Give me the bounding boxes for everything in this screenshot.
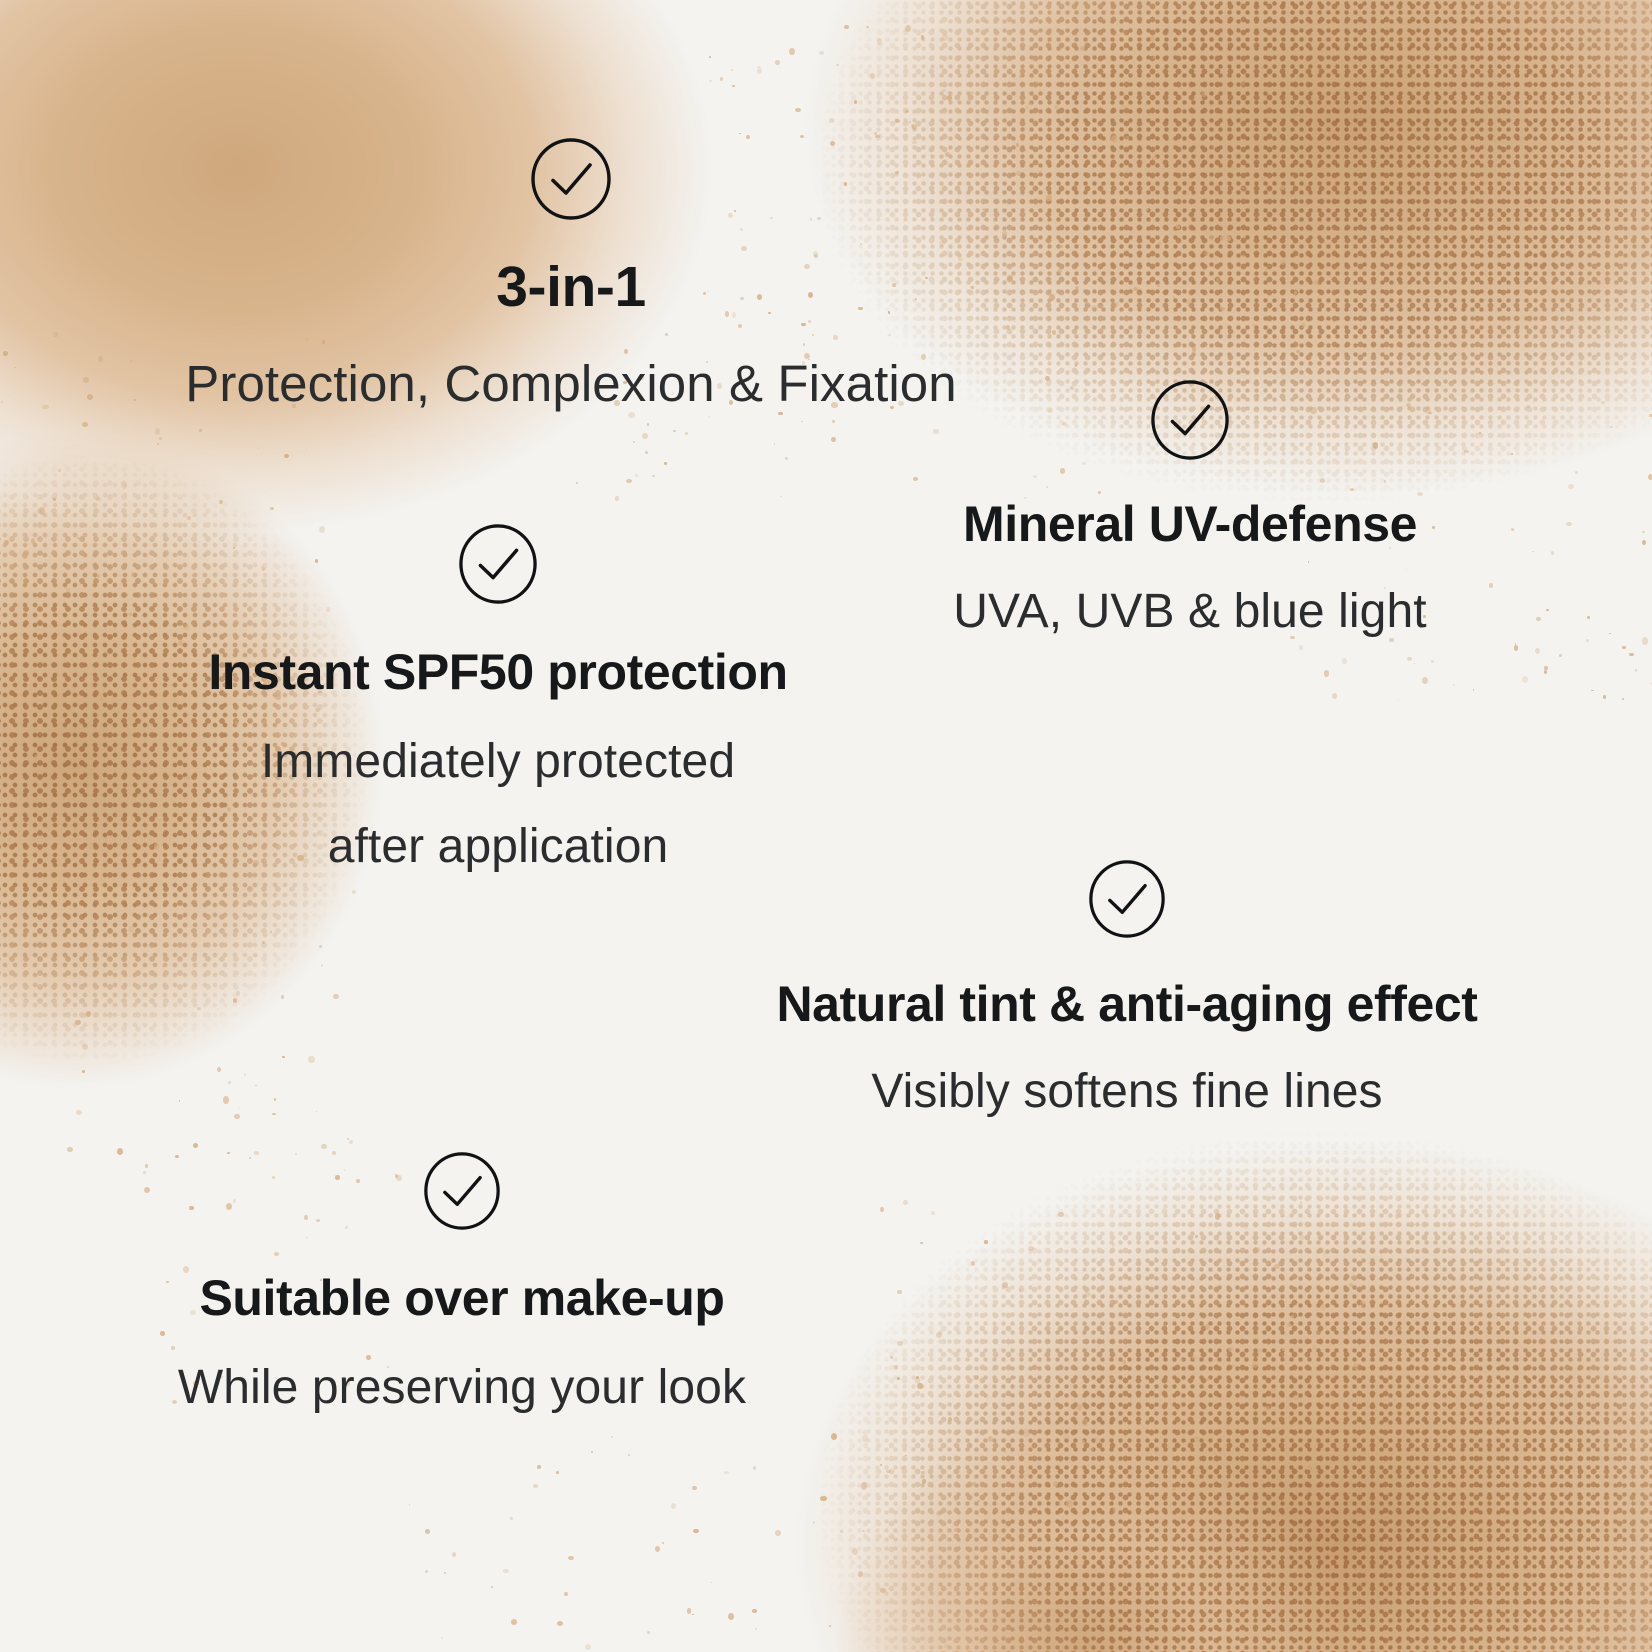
powder-fleck	[121, 482, 127, 489]
powder-fleck	[262, 941, 265, 944]
powder-fleck	[1204, 251, 1210, 256]
powder-fleck	[1453, 684, 1456, 687]
powder-fleck	[1280, 259, 1286, 266]
powder-fleck	[1106, 57, 1112, 63]
powder-fleck	[739, 133, 741, 135]
powder-fleck	[753, 1466, 756, 1470]
powder-fleck	[1253, 1247, 1260, 1253]
powder-fleck	[1173, 296, 1176, 299]
powder-fleck	[1205, 230, 1211, 235]
powder-fleck	[1261, 177, 1265, 181]
feature-subtitle-line-2: after application	[328, 811, 669, 882]
feature-title: Mineral UV-defense	[963, 496, 1417, 552]
powder-fleck	[1363, 1251, 1365, 1253]
powder-fleck	[1559, 654, 1562, 658]
powder-fleck	[3, 351, 8, 355]
powder-fleck	[1085, 1292, 1091, 1297]
powder-fleck	[752, 1609, 757, 1613]
powder-fleck	[1189, 305, 1192, 307]
powder-fleck	[1109, 1377, 1115, 1381]
powder-fleck	[988, 1436, 993, 1442]
powder-fleck	[1215, 1213, 1221, 1220]
powder-fleck	[1090, 1448, 1094, 1451]
powder-fleck	[4, 540, 9, 546]
powder-fleck	[33, 829, 35, 831]
powder-fleck	[244, 1073, 247, 1076]
powder-fleck	[159, 437, 163, 440]
powder-fleck	[1586, 639, 1590, 642]
powder-fleck	[982, 208, 985, 211]
powder-fleck	[82, 1070, 85, 1073]
powder-fleck	[1210, 238, 1213, 241]
powder-fleck	[692, 1614, 694, 1616]
powder-fleck	[258, 448, 260, 449]
powder-fleck	[129, 613, 132, 617]
powder-fleck	[1348, 1507, 1354, 1512]
powder-fleck	[1302, 323, 1305, 327]
powder-fleck	[1533, 401, 1535, 403]
powder-fleck	[720, 77, 723, 81]
powder-fleck	[82, 422, 88, 426]
powder-fleck	[1431, 660, 1434, 663]
powder-fleck	[1546, 609, 1549, 612]
powder-fleck	[217, 1067, 221, 1072]
powder-fleck	[306, 449, 308, 450]
powder-fleck	[948, 1495, 951, 1498]
powder-grain-bottom-right	[762, 1092, 1652, 1652]
powder-fleck	[921, 1471, 925, 1474]
powder-fleck	[321, 964, 324, 968]
powder-fleck	[1264, 268, 1268, 273]
powder-fleck	[556, 1471, 559, 1474]
powder-fleck	[321, 1144, 326, 1149]
powder-fleck	[128, 926, 134, 934]
powder-fleck	[897, 1377, 900, 1380]
powder-fleck	[731, 69, 733, 71]
powder-fleck	[647, 1631, 651, 1634]
powder-fleck	[664, 462, 667, 465]
powder-fleck	[1244, 1225, 1248, 1229]
powder-fleck	[1366, 1519, 1371, 1525]
powder-fleck	[1242, 187, 1245, 190]
powder-fleck	[1058, 1212, 1064, 1217]
powder-fleck	[557, 1621, 563, 1626]
powder-fleck	[986, 1475, 989, 1477]
powder-fleck	[709, 80, 712, 83]
powder-fleck	[281, 995, 284, 999]
feature-block-natural-tint: Natural tint & anti-aging effect Visibly…	[722, 860, 1532, 1127]
powder-fleck	[1324, 670, 1330, 677]
powder-fleck	[1414, 663, 1416, 664]
powder-fleck	[820, 1496, 827, 1501]
powder-fleck	[1150, 36, 1155, 43]
powder-fleck	[1094, 1437, 1100, 1443]
powder-fleck	[98, 694, 104, 701]
powder-fleck	[1052, 1441, 1054, 1443]
powder-fleck	[831, 437, 836, 443]
powder-fleck	[1212, 1507, 1215, 1509]
powder-fleck	[862, 1530, 865, 1532]
powder-fleck	[1110, 1466, 1114, 1470]
powder-fleck	[1252, 323, 1256, 327]
powder-fleck	[576, 482, 578, 484]
powder-fleck	[1544, 670, 1547, 674]
powder-fleck	[1228, 1347, 1233, 1352]
powder-fleck	[68, 1002, 70, 1004]
powder-fleck	[1094, 72, 1099, 77]
powder-fleck	[1362, 1305, 1364, 1307]
powder-fleck	[931, 1211, 936, 1215]
powder-fleck	[1216, 277, 1221, 283]
powder-fleck	[1234, 1530, 1236, 1532]
feature-block-over-makeup: Suitable over make-up While preserving y…	[122, 1152, 802, 1423]
powder-fleck	[1317, 1331, 1320, 1334]
powder-fleck	[1171, 49, 1173, 52]
powder-fleck	[645, 451, 648, 454]
powder-fleck	[409, 1504, 411, 1506]
powder-fleck	[270, 507, 274, 510]
powder-fleck	[635, 474, 638, 477]
powder-fleck	[1396, 1510, 1398, 1511]
powder-fleck	[917, 1383, 923, 1388]
powder-fleck	[284, 454, 289, 458]
powder-fleck	[42, 405, 49, 410]
powder-fleck	[352, 890, 356, 894]
powder-fleck	[272, 1113, 276, 1116]
powder-fleck	[1128, 79, 1130, 82]
feature-title: 3-in-1	[496, 256, 646, 320]
powder-fleck	[193, 1143, 198, 1148]
powder-fleck	[1603, 695, 1606, 699]
powder-fleck	[1259, 1363, 1262, 1365]
powder-fleck	[1206, 1378, 1210, 1381]
powder-fleck	[1318, 233, 1321, 235]
powder-fleck	[187, 516, 191, 520]
powder-fleck	[1158, 242, 1161, 245]
powder-fleck	[452, 1552, 456, 1557]
powder-fleck	[942, 34, 948, 40]
powder-fleck	[1360, 1300, 1366, 1306]
powder-fleck	[1201, 91, 1207, 97]
powder-fleck	[728, 1613, 734, 1620]
powder-fleck	[1211, 146, 1215, 150]
powder-fleck	[97, 574, 101, 578]
powder-fleck	[905, 25, 911, 32]
powder-fleck	[1082, 1440, 1086, 1444]
powder-fleck	[162, 966, 164, 968]
powder-fleck	[1287, 1385, 1289, 1387]
powder-fleck	[880, 1207, 884, 1212]
powder-fleck	[1609, 633, 1611, 635]
powder-mass-bottom-center	[780, 1392, 1400, 1652]
powder-fleck	[282, 1056, 284, 1058]
powder-fleck	[1108, 1505, 1110, 1507]
powder-fleck	[1007, 1419, 1009, 1422]
powder-fleck	[1006, 325, 1010, 331]
powder-fleck	[1287, 1323, 1290, 1327]
powder-fleck	[642, 433, 648, 439]
powder-fleck	[444, 1572, 446, 1574]
powder-fleck	[1291, 175, 1293, 178]
powder-fleck	[1016, 143, 1020, 147]
powder-fleck	[510, 1517, 513, 1520]
powder-fleck	[1083, 1348, 1086, 1351]
powder-fleck	[1294, 291, 1297, 295]
powder-fleck	[1422, 677, 1428, 684]
powder-fleck	[1351, 1275, 1357, 1280]
powder-fleck	[905, 110, 909, 114]
powder-fleck	[1473, 689, 1475, 691]
powder-fleck	[1635, 669, 1637, 672]
powder-fleck	[1610, 426, 1613, 428]
powder-fleck	[789, 48, 795, 55]
powder-fleck	[1020, 1289, 1022, 1291]
powder-fleck	[98, 356, 103, 362]
powder-fleck	[954, 1528, 960, 1533]
powder-fleck	[1209, 235, 1214, 241]
powder-fleck	[1049, 294, 1055, 301]
powder-fleck	[829, 1625, 831, 1628]
powder-fleck	[1293, 1395, 1299, 1401]
powder-fleck	[1057, 1498, 1063, 1506]
powder-fleck	[1053, 1398, 1056, 1400]
powder-fleck	[1111, 135, 1117, 143]
powder-fleck	[130, 360, 133, 363]
powder-fleck	[1021, 1474, 1026, 1477]
powder-fleck	[1332, 693, 1338, 699]
powder-fleck	[985, 227, 988, 230]
powder-fleck	[685, 432, 688, 435]
powder-fleck	[115, 814, 118, 817]
powder-fleck	[1125, 136, 1129, 140]
powder-fleck	[53, 498, 56, 501]
powder-fleck	[1168, 283, 1171, 285]
powder-fleck	[911, 124, 914, 128]
powder-fleck	[662, 1542, 664, 1544]
powder-fleck	[844, 25, 849, 29]
powder-fleck	[973, 1375, 979, 1380]
powder-fleck	[1282, 1348, 1285, 1351]
powder-fleck	[333, 994, 339, 999]
powder-fleck	[1130, 73, 1135, 77]
powder-fleck	[14, 367, 16, 369]
powder-fleck	[1039, 170, 1042, 174]
powder-fleck	[228, 1081, 232, 1084]
powder-fleck	[1153, 56, 1156, 59]
powder-fleck	[840, 1530, 843, 1533]
powder-fleck	[920, 1242, 922, 1245]
powder-fleck	[1057, 269, 1062, 273]
powder-fleck	[1112, 1300, 1118, 1304]
powder-fleck	[179, 1100, 181, 1102]
infographic-canvas: 3-in-1 Protection, Complexion & Fixation…	[0, 0, 1652, 1652]
powder-fleck	[491, 1586, 493, 1588]
powder-fleck	[1019, 75, 1022, 78]
powder-fleck	[70, 903, 75, 907]
powder-fleck	[89, 842, 95, 849]
powder-fleck	[1014, 321, 1016, 322]
powder-fleck	[1028, 102, 1032, 105]
powder-fleck	[18, 830, 21, 833]
powder-fleck	[1291, 1315, 1294, 1318]
powder-fleck	[81, 537, 86, 542]
powder-fleck	[611, 1436, 613, 1438]
powder-fleck	[1535, 648, 1540, 654]
powder-fleck	[909, 121, 910, 123]
powder-fleck	[157, 443, 159, 445]
powder-fleck	[1326, 1232, 1328, 1234]
powder-fleck	[1176, 225, 1180, 229]
powder-fleck	[890, 1356, 893, 1360]
powder-fleck	[1075, 364, 1078, 367]
powder-fleck	[1194, 1436, 1199, 1442]
powder-fleck	[1349, 1283, 1353, 1287]
powder-fleck	[997, 264, 1001, 267]
powder-fleck	[785, 457, 788, 460]
powder-fleck	[347, 1138, 349, 1140]
powder-fleck	[673, 430, 676, 433]
powder-fleck	[1279, 185, 1285, 190]
powder-fleck	[877, 38, 883, 45]
powder-fleck	[912, 124, 917, 130]
powder-fleck	[568, 1556, 574, 1560]
powder-fleck	[1239, 120, 1243, 123]
powder-fleck	[1232, 1364, 1235, 1367]
powder-fleck	[1113, 1508, 1116, 1511]
powder-fleck	[349, 1140, 353, 1145]
powder-fleck	[1398, 700, 1400, 702]
powder-fleck	[724, 1471, 729, 1475]
powder-fleck	[1112, 1243, 1116, 1247]
powder-fleck	[1642, 540, 1646, 545]
powder-fleck	[1300, 1201, 1303, 1204]
powder-fleck	[41, 817, 45, 822]
powder-fleck	[233, 998, 238, 1003]
powder-fleck	[1342, 1518, 1344, 1520]
powder-fleck	[775, 60, 780, 65]
powder-fleck	[1122, 1360, 1126, 1364]
powder-fleck	[1003, 1451, 1007, 1454]
powder-fleck	[503, 1569, 509, 1573]
powder-fleck	[711, 1582, 713, 1583]
powder-fleck	[921, 35, 925, 40]
check-circle-icon	[1088, 860, 1166, 938]
powder-fleck	[894, 1365, 898, 1370]
powder-fleck	[1091, 305, 1098, 312]
powder-fleck	[1227, 236, 1231, 241]
powder-mass-bottom-right	[752, 1112, 1652, 1652]
powder-fleck	[274, 1098, 276, 1101]
powder-fleck	[905, 1455, 907, 1456]
powder-fleck	[1205, 1324, 1210, 1330]
powder-fleck	[69, 710, 74, 715]
powder-fleck	[1288, 1416, 1293, 1420]
powder-fleck	[757, 66, 760, 69]
powder-fleck	[1195, 1235, 1198, 1238]
powder-fleck	[897, 1341, 903, 1346]
powder-fleck	[633, 441, 635, 444]
powder-fleck	[936, 1332, 942, 1338]
feature-subtitle: UVA, UVB & blue light	[953, 576, 1426, 647]
powder-fleck	[1312, 1345, 1316, 1351]
powder-fleck	[626, 479, 632, 484]
powder-fleck	[813, 1521, 815, 1524]
powder-fleck	[1070, 1383, 1076, 1388]
powder-fleck	[757, 68, 763, 74]
powder-fleck	[1002, 231, 1008, 237]
powder-fleck	[155, 428, 161, 435]
powder-fleck	[1254, 1334, 1259, 1339]
powder-fleck	[1052, 330, 1056, 335]
powder-fleck	[197, 1007, 201, 1010]
powder-fleck	[942, 89, 946, 92]
powder-fleck	[219, 500, 223, 504]
powder-fleck	[537, 1465, 541, 1469]
powder-fleck	[1003, 234, 1006, 238]
powder-fleck	[425, 1570, 428, 1573]
powder-fleck	[1296, 350, 1300, 354]
powder-fleck	[1642, 637, 1648, 645]
powder-fleck	[1642, 531, 1645, 533]
feature-block-3-in-1: 3-in-1 Protection, Complexion & Fixation	[176, 138, 966, 421]
powder-fleck	[564, 1592, 568, 1596]
powder-fleck	[880, 1588, 886, 1593]
powder-fleck	[1059, 245, 1063, 248]
powder-fleck	[1240, 82, 1245, 86]
powder-fleck	[58, 469, 61, 472]
powder-fleck	[20, 580, 21, 581]
powder-fleck	[944, 1644, 949, 1649]
powder-fleck	[1536, 617, 1541, 621]
powder-fleck	[861, 1459, 863, 1460]
powder-fleck	[1185, 191, 1190, 197]
powder-fleck	[1007, 275, 1013, 281]
powder-fleck	[31, 538, 35, 543]
powder-fleck	[1141, 130, 1143, 132]
powder-fleck	[1016, 171, 1020, 176]
powder-fleck	[1220, 235, 1225, 241]
powder-fleck	[1320, 1304, 1326, 1311]
powder-fleck	[755, 1628, 757, 1630]
powder-fleck	[90, 774, 95, 778]
powder-fleck	[1097, 219, 1101, 222]
powder-fleck	[1075, 286, 1079, 290]
powder-fleck	[951, 1351, 954, 1355]
check-circle-icon	[458, 524, 538, 604]
powder-fleck	[133, 399, 136, 401]
powder-fleck	[900, 1466, 905, 1470]
powder-fleck	[68, 784, 74, 789]
feature-subtitle: While preserving your look	[178, 1352, 746, 1423]
powder-fleck	[1082, 1418, 1088, 1426]
powder-fleck	[308, 1056, 314, 1064]
powder-fleck	[922, 1479, 926, 1484]
powder-fleck	[1253, 142, 1255, 143]
powder-fleck	[1367, 1427, 1369, 1429]
powder-fleck	[970, 286, 972, 288]
powder-fleck	[1258, 1349, 1262, 1352]
powder-fleck	[880, 1464, 882, 1466]
powder-fleck	[854, 100, 857, 104]
powder-fleck	[1053, 1481, 1058, 1487]
powder-fleck	[1522, 676, 1528, 683]
feature-subtitle: Protection, Complexion & Fixation	[185, 346, 957, 421]
powder-fleck	[77, 537, 80, 540]
powder-fleck	[774, 443, 776, 445]
powder-fleck	[1179, 1210, 1181, 1212]
powder-fleck	[1395, 1214, 1399, 1219]
powder-fleck	[916, 1510, 920, 1515]
